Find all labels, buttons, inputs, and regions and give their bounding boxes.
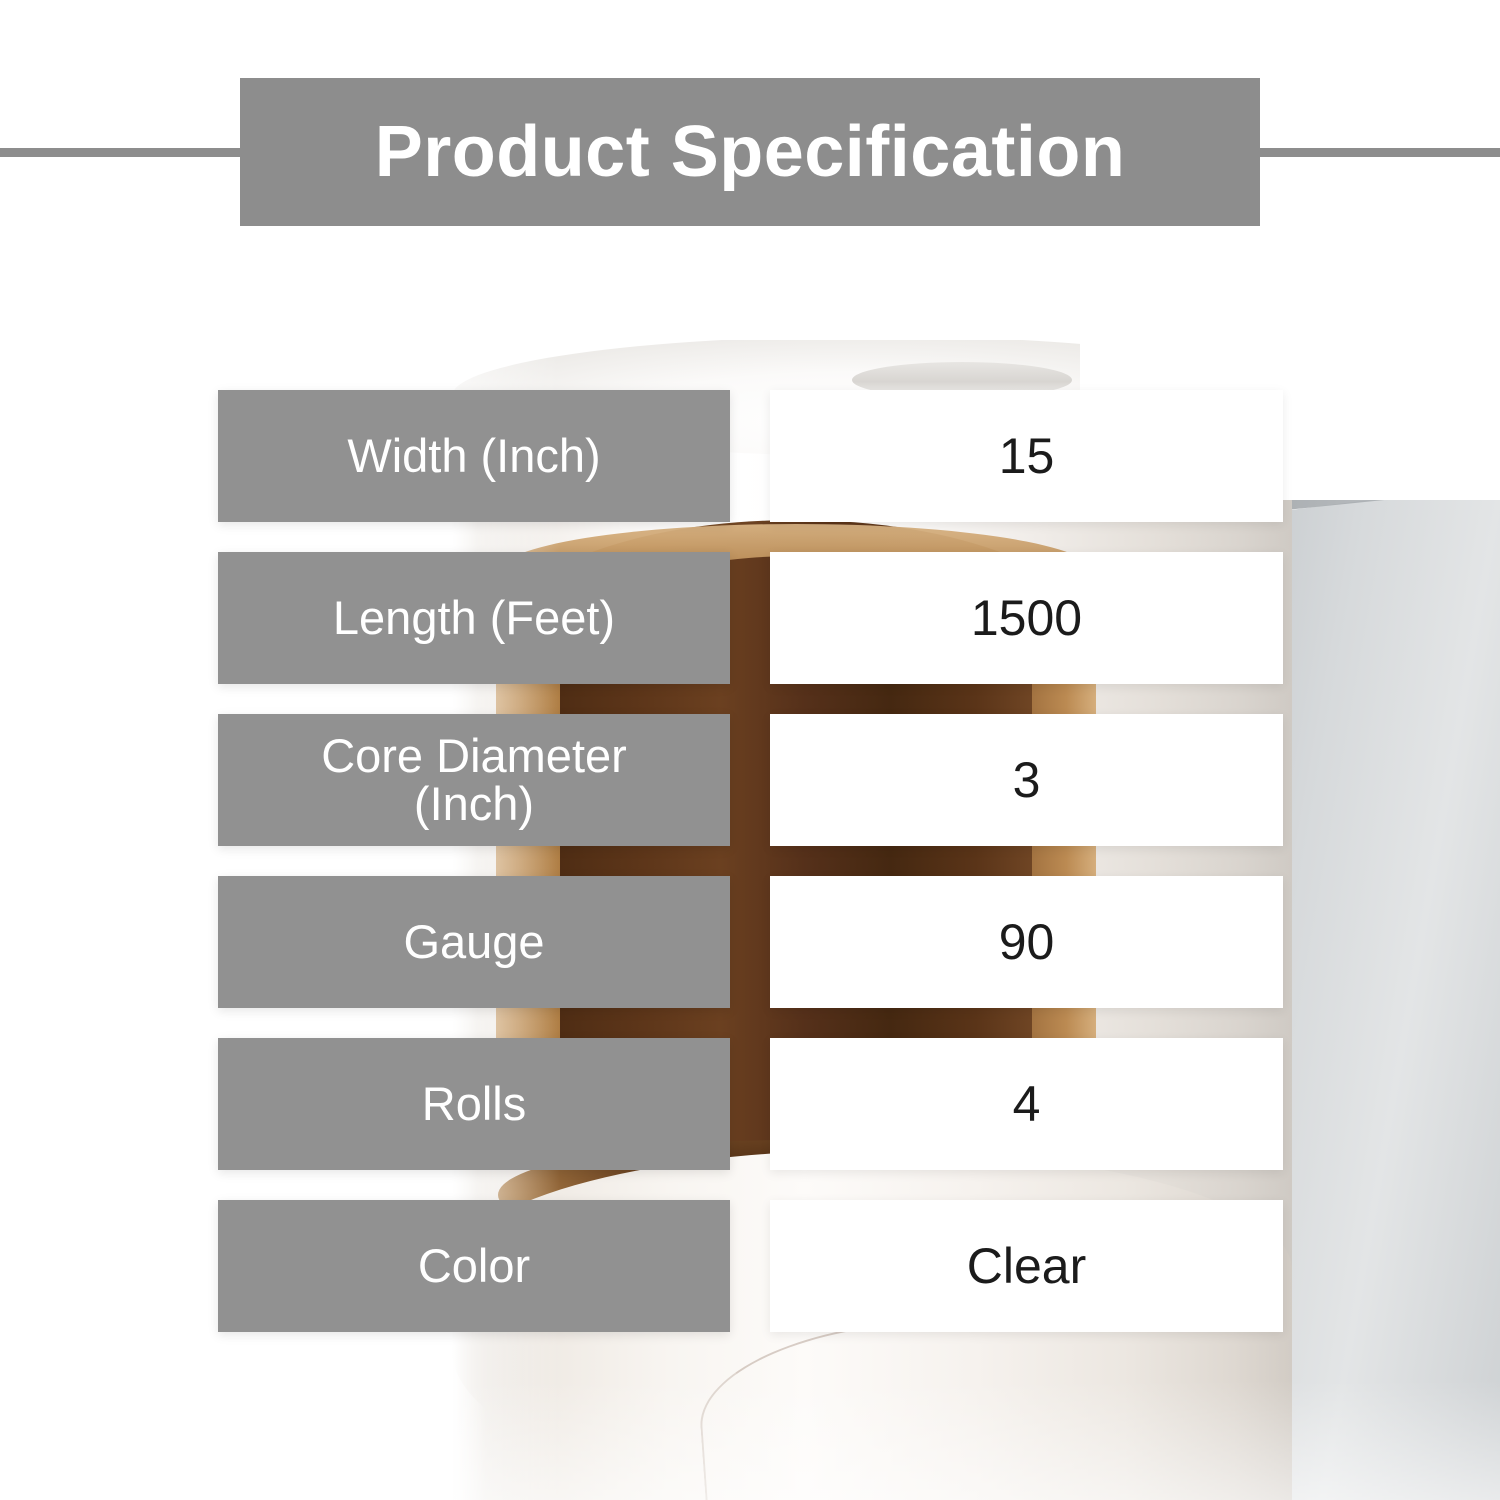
spec-label-cell: Gauge — [218, 876, 730, 1008]
spec-label-text: Length (Feet) — [321, 594, 627, 642]
table-row: Length (Feet)1500 — [218, 552, 1283, 684]
spec-label-text: Color — [406, 1242, 542, 1290]
table-row: ColorClear — [218, 1200, 1283, 1332]
spec-label-text: Gauge — [391, 918, 556, 966]
spec-label-cell: Rolls — [218, 1038, 730, 1170]
table-row: Width (Inch)15 — [218, 390, 1283, 522]
spec-label-cell: Length (Feet) — [218, 552, 730, 684]
specification-table: Width (Inch)15Length (Feet)1500Core Diam… — [0, 0, 1500, 1500]
spec-label-cell: Width (Inch) — [218, 390, 730, 522]
spec-value-text: 1500 — [971, 593, 1082, 643]
spec-value-cell: 90 — [770, 876, 1283, 1008]
spec-value-text: Clear — [967, 1241, 1086, 1291]
spec-label-cell: Color — [218, 1200, 730, 1332]
table-row: Core Diameter(Inch)3 — [218, 714, 1283, 846]
spec-value-text: 4 — [1013, 1079, 1041, 1129]
product-specification-infographic: Product Specification Width (Inch)15Leng… — [0, 0, 1500, 1500]
spec-value-text: 15 — [999, 431, 1055, 481]
spec-label-text: Core Diameter(Inch) — [309, 732, 639, 828]
spec-value-cell: 4 — [770, 1038, 1283, 1170]
spec-value-cell: 15 — [770, 390, 1283, 522]
spec-value-cell: 3 — [770, 714, 1283, 846]
spec-label-text: Rolls — [410, 1080, 538, 1128]
table-row: Rolls4 — [218, 1038, 1283, 1170]
spec-label-text: Width (Inch) — [335, 432, 612, 480]
spec-value-text: 90 — [999, 917, 1055, 967]
spec-label-cell: Core Diameter(Inch) — [218, 714, 730, 846]
spec-value-cell: 1500 — [770, 552, 1283, 684]
spec-value-text: 3 — [1013, 755, 1041, 805]
spec-value-cell: Clear — [770, 1200, 1283, 1332]
table-row: Gauge90 — [218, 876, 1283, 1008]
